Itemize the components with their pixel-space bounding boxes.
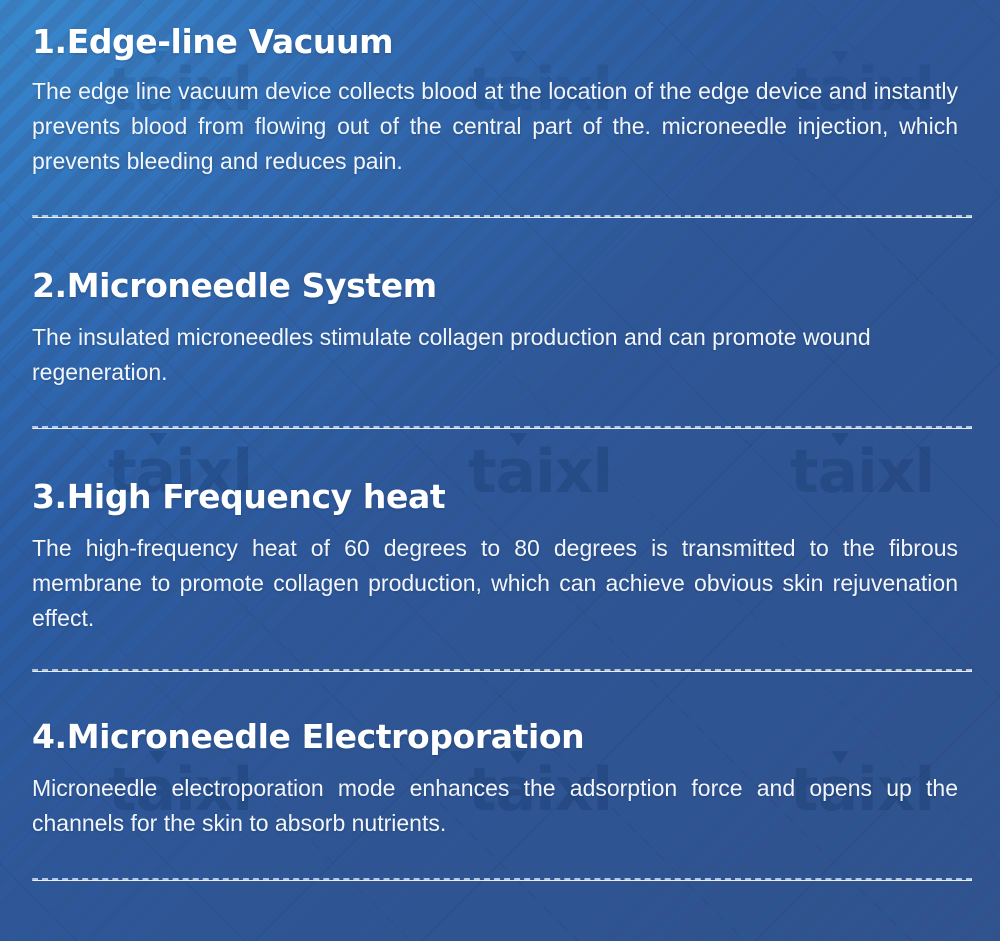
feature-section-2: 2.Microneedle System The insulated micro… [32, 218, 968, 390]
product-feature-panel: taixl taixl taixl taixl taixl taixl taix… [0, 0, 1000, 941]
feature-body-2: The insulated microneedles stimulate col… [32, 320, 958, 390]
feature-heading-3: 3.High Frequency heat [32, 479, 968, 515]
feature-body-1: The edge line vacuum device collects blo… [32, 74, 958, 179]
feature-section-1: 1.Edge-line Vacuum The edge line vacuum … [32, 0, 968, 179]
section-divider-4 [32, 878, 972, 881]
feature-list: 1.Edge-line Vacuum The edge line vacuum … [0, 0, 1000, 881]
feature-heading-1: 1.Edge-line Vacuum [32, 24, 968, 60]
feature-section-3: 3.High Frequency heat The high-frequency… [32, 429, 968, 635]
feature-heading-4: 4.Microneedle Electroporation [32, 719, 968, 755]
feature-heading-2: 2.Microneedle System [32, 268, 968, 304]
feature-body-4: Microneedle electroporation mode enhance… [32, 771, 958, 841]
feature-section-4: 4.Microneedle Electroporation Microneedl… [32, 672, 968, 841]
feature-body-3: The high-frequency heat of 60 degrees to… [32, 531, 958, 636]
